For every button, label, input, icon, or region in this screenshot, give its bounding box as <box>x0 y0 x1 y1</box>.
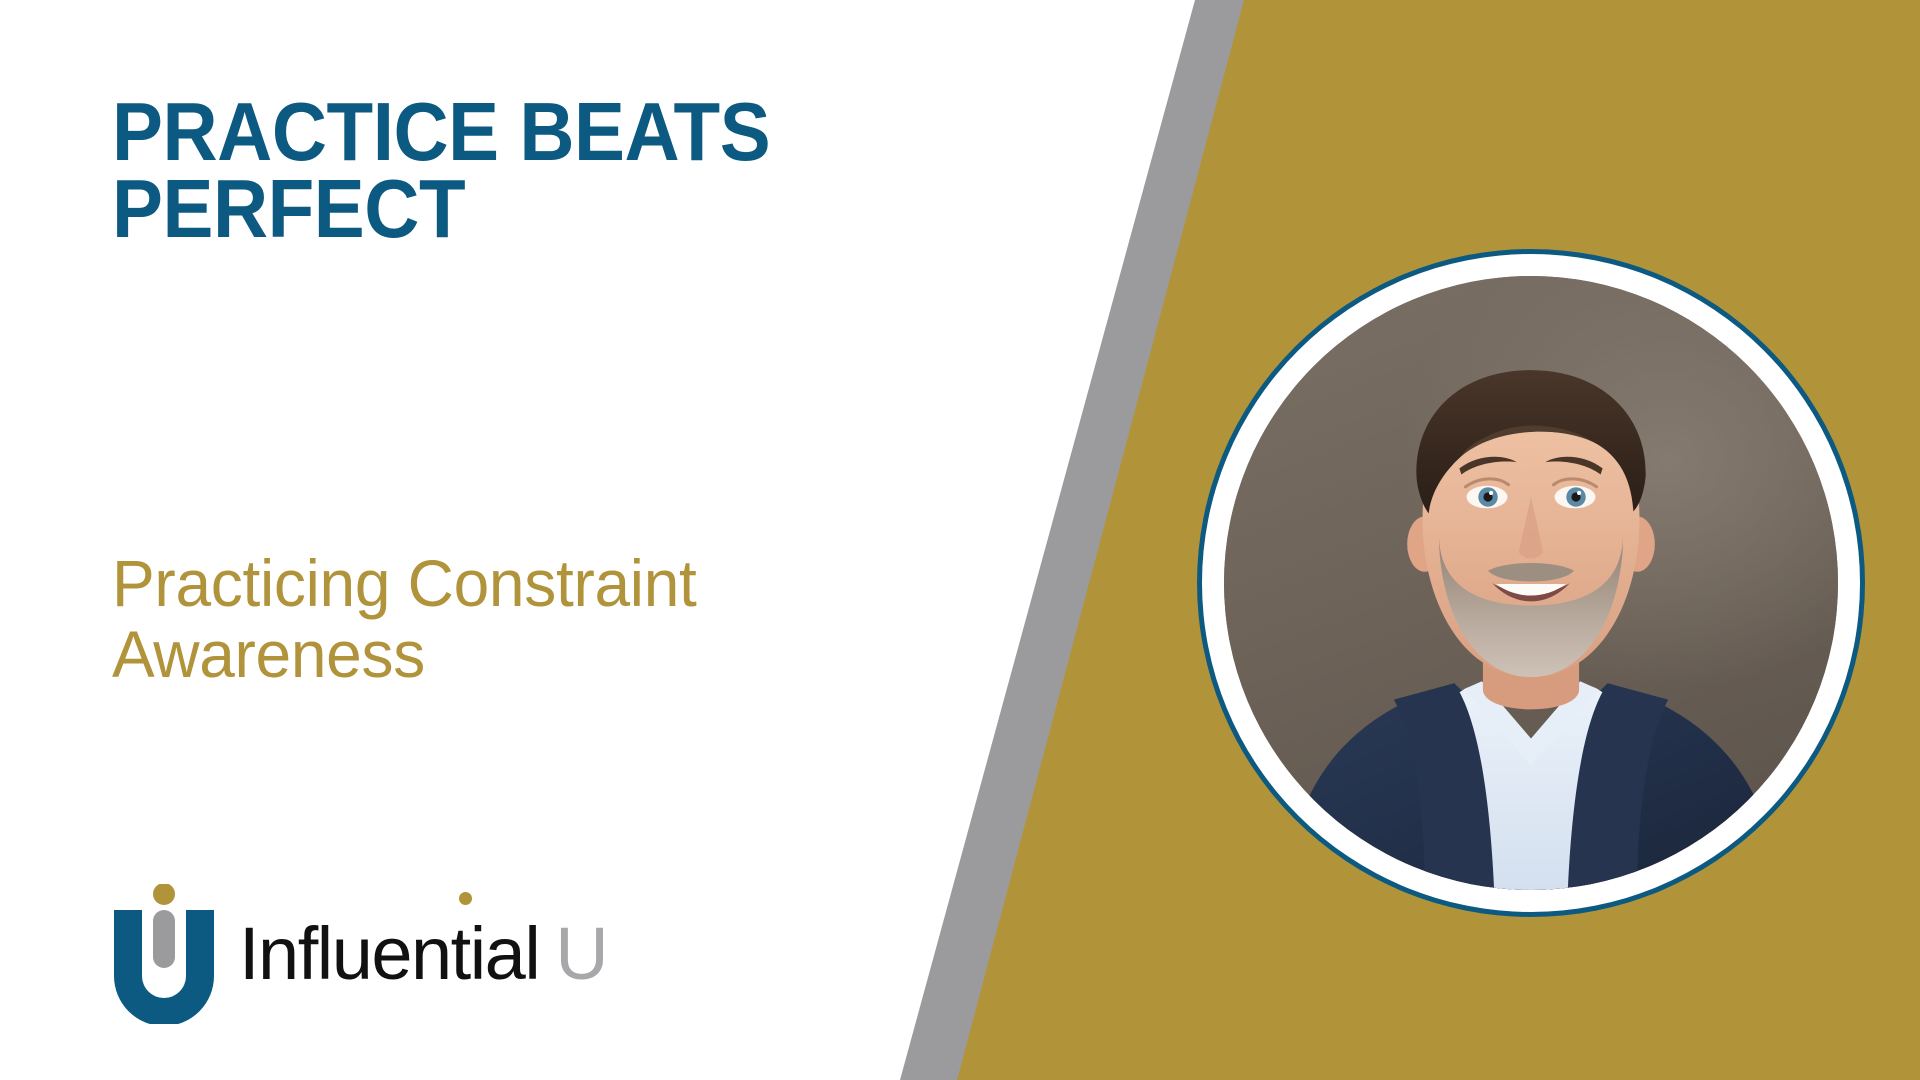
wordmark-gold-dot-icon <box>459 892 472 905</box>
slide-subtitle: Practicing Constraint Awareness <box>112 548 907 691</box>
portrait-illustration <box>1224 276 1838 890</box>
speaker-portrait <box>1224 276 1838 890</box>
wordmark-u: U <box>555 917 607 991</box>
wordmark-influential: Influential <box>239 917 539 991</box>
left-content-column: PRACTICE BEATS PERFECT Practicing Constr… <box>112 0 952 1080</box>
portrait-white-ring <box>1202 254 1860 912</box>
portrait-outer-ring <box>1197 249 1865 917</box>
slide-canvas: PRACTICE BEATS PERFECT Practicing Constr… <box>0 0 1920 1080</box>
influential-u-mark-icon <box>112 884 217 1024</box>
slide-title: PRACTICE BEATS PERFECT <box>112 93 866 247</box>
brand-wordmark: Influential U <box>239 917 607 991</box>
brand-logo: Influential U <box>112 884 607 1024</box>
